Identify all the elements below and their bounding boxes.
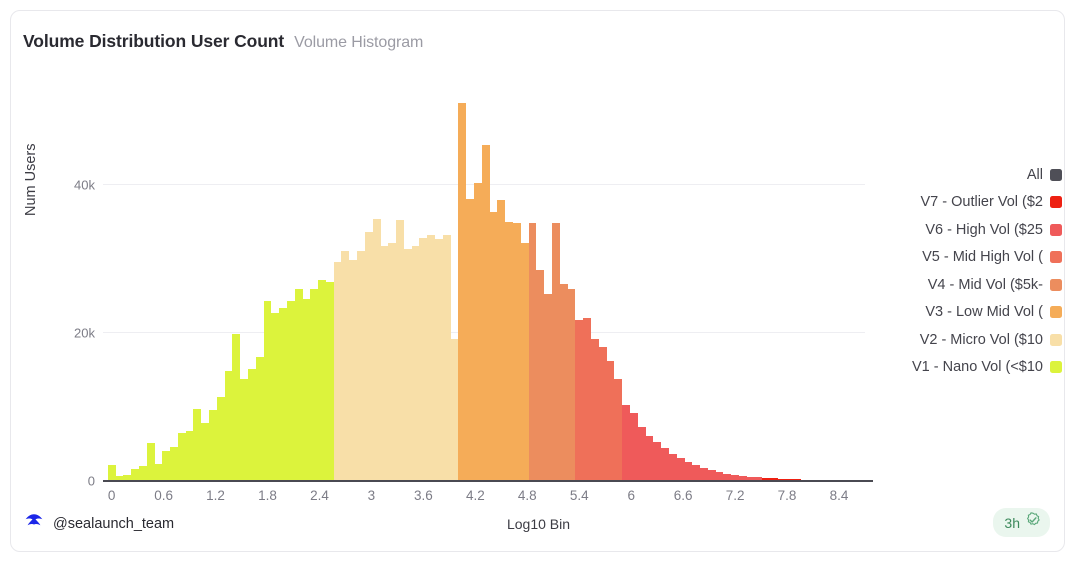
histogram-bar: [412, 246, 420, 481]
histogram-bar: [435, 239, 443, 481]
histogram-bar: [692, 465, 700, 481]
histogram-bar: [684, 462, 692, 481]
histogram-bar: [373, 219, 381, 481]
histogram-bar: [575, 320, 583, 481]
x-tick-label: 2.4: [310, 488, 329, 503]
histogram-bar: [209, 410, 217, 481]
x-tick-label: 0: [108, 488, 116, 503]
footer-attribution: @sealaunch_team: [23, 510, 174, 537]
chart-legend: AllV7 - Outlier Vol ($2V6 - High Vol ($2…: [880, 161, 1062, 381]
histogram-bar: [552, 223, 560, 481]
histogram-bar: [466, 199, 474, 481]
y-tick-label: 0: [88, 474, 95, 489]
histogram-bar: [334, 262, 342, 481]
histogram-bar: [427, 235, 435, 481]
histogram-bar: [139, 466, 147, 481]
legend-color-swatch: [1050, 169, 1062, 181]
histogram-bar: [256, 357, 264, 481]
histogram-bar: [419, 238, 427, 481]
legend-item[interactable]: All: [880, 161, 1062, 189]
histogram-bar: [295, 289, 303, 481]
histogram-bar: [513, 223, 521, 481]
histogram-bar: [497, 200, 505, 481]
histogram-bar: [357, 251, 365, 481]
freshness-badge: 3h: [993, 508, 1050, 537]
verified-check-icon: [1025, 512, 1041, 533]
x-axis-ticks: 00.61.21.82.433.64.24.85.466.67.27.88.4: [103, 488, 865, 510]
histogram-bar: [669, 454, 677, 481]
histogram-bar: [544, 294, 552, 481]
histogram-bar: [108, 465, 116, 481]
legend-color-swatch: [1050, 251, 1062, 263]
author-handle: @sealaunch_team: [53, 516, 174, 532]
histogram-bar: [388, 243, 396, 481]
histogram-bar: [700, 468, 708, 481]
x-axis-line: [103, 480, 873, 482]
histogram-bar: [349, 260, 357, 481]
histogram-bar: [287, 301, 295, 481]
x-tick-label: 7.8: [778, 488, 797, 503]
histogram-bar: [341, 251, 349, 481]
histogram-bar: [396, 220, 404, 481]
legend-color-swatch: [1050, 224, 1062, 236]
legend-item-label: V1 - Nano Vol (<$10: [912, 359, 1043, 375]
histogram-bar: [505, 222, 513, 481]
x-tick-label: 3: [368, 488, 376, 503]
x-tick-label: 6.6: [674, 488, 693, 503]
histogram-bar: [240, 379, 248, 481]
histogram-bar: [677, 458, 685, 481]
legend-item[interactable]: V1 - Nano Vol (<$10: [880, 354, 1062, 382]
legend-color-swatch: [1050, 306, 1062, 318]
histogram-bar: [482, 145, 490, 481]
histogram-bar: [614, 379, 622, 481]
histogram-bar: [271, 313, 279, 481]
histogram-bar: [162, 451, 170, 481]
histogram-bar: [178, 433, 186, 481]
legend-item-label: V7 - Outlier Vol ($2: [921, 194, 1044, 210]
x-tick-label: 6: [627, 488, 635, 503]
histogram-bar: [638, 427, 646, 481]
x-tick-label: 1.8: [258, 488, 277, 503]
histogram-bar: [279, 308, 287, 481]
histogram-bar: [310, 289, 318, 482]
histogram-bar: [536, 270, 544, 481]
histogram-bar: [490, 212, 498, 481]
legend-item-label: V5 - Mid High Vol (: [922, 249, 1043, 265]
legend-item[interactable]: V7 - Outlier Vol ($2: [880, 189, 1062, 217]
x-tick-label: 4.2: [466, 488, 485, 503]
legend-item-label: V4 - Mid Vol ($5k-: [928, 277, 1043, 293]
legend-item[interactable]: V2 - Micro Vol ($10: [880, 326, 1062, 354]
histogram-bar: [474, 183, 482, 481]
histogram-bar: [645, 436, 653, 481]
x-tick-label: 3.6: [414, 488, 433, 503]
histogram-bar: [529, 223, 537, 481]
legend-item-label: V2 - Micro Vol ($10: [920, 332, 1043, 348]
legend-color-swatch: [1050, 196, 1062, 208]
histogram-bar: [365, 232, 373, 481]
histogram-bar: [147, 443, 155, 482]
legend-item[interactable]: V6 - High Vol ($25: [880, 216, 1062, 244]
histogram-bar: [318, 280, 326, 481]
histogram-bar: [599, 347, 607, 481]
histogram-bar: [154, 464, 162, 481]
legend-item[interactable]: V5 - Mid High Vol (: [880, 244, 1062, 272]
histogram-bar: [264, 301, 272, 481]
histogram-bar: [521, 243, 529, 481]
histogram-bar: [591, 339, 599, 481]
histogram-bar: [630, 413, 638, 481]
x-tick-label: 0.6: [154, 488, 173, 503]
histogram-bar: [622, 405, 630, 481]
legend-item[interactable]: V3 - Low Mid Vol (: [880, 299, 1062, 327]
histogram-bar: [225, 371, 233, 481]
sealaunch-logo-icon: [23, 510, 45, 537]
x-tick-label: 5.4: [570, 488, 589, 503]
y-tick-label: 20k: [74, 325, 95, 340]
chart-card: Volume Distribution User Count Volume Hi…: [10, 10, 1065, 552]
histogram-bar: [303, 299, 311, 481]
histogram-bar: [217, 397, 225, 481]
legend-item-label: V3 - Low Mid Vol (: [925, 304, 1043, 320]
legend-color-swatch: [1050, 279, 1062, 291]
histogram-bar: [380, 246, 388, 481]
histogram-bar: [248, 369, 256, 481]
status-badge: 3h: [1004, 515, 1020, 531]
legend-color-swatch: [1050, 334, 1062, 346]
legend-item-label: V6 - High Vol ($25: [925, 222, 1043, 238]
histogram-bars: [103, 96, 865, 481]
histogram-bar: [201, 423, 209, 481]
y-axis-label: Num Users: [23, 143, 39, 216]
histogram-bar: [661, 448, 669, 481]
histogram-bar: [567, 289, 575, 481]
x-tick-label: 4.8: [518, 488, 537, 503]
histogram-bar: [653, 442, 661, 481]
histogram-bar: [193, 409, 201, 481]
x-tick-label: 1.2: [206, 488, 225, 503]
histogram-bar: [583, 318, 591, 481]
histogram-bar: [186, 431, 194, 481]
y-axis-ticks: 020k40k: [51, 11, 95, 578]
plot-area: [103, 96, 865, 481]
chart-subtitle: Volume Histogram: [294, 34, 423, 52]
x-tick-label: 7.2: [726, 488, 745, 503]
histogram-bar: [458, 103, 466, 481]
legend-item-label: All: [1027, 167, 1043, 183]
histogram-bar: [443, 235, 451, 481]
legend-color-swatch: [1050, 361, 1062, 373]
histogram-bar: [404, 249, 412, 481]
legend-item[interactable]: V4 - Mid Vol ($5k-: [880, 271, 1062, 299]
histogram-bar: [232, 334, 240, 481]
y-tick-label: 40k: [74, 177, 95, 192]
histogram-bar: [326, 282, 334, 481]
histogram-bar: [451, 339, 459, 481]
histogram-bar: [606, 361, 614, 481]
histogram-bar: [560, 284, 568, 481]
histogram-bar: [170, 447, 178, 481]
x-tick-label: 8.4: [830, 488, 849, 503]
